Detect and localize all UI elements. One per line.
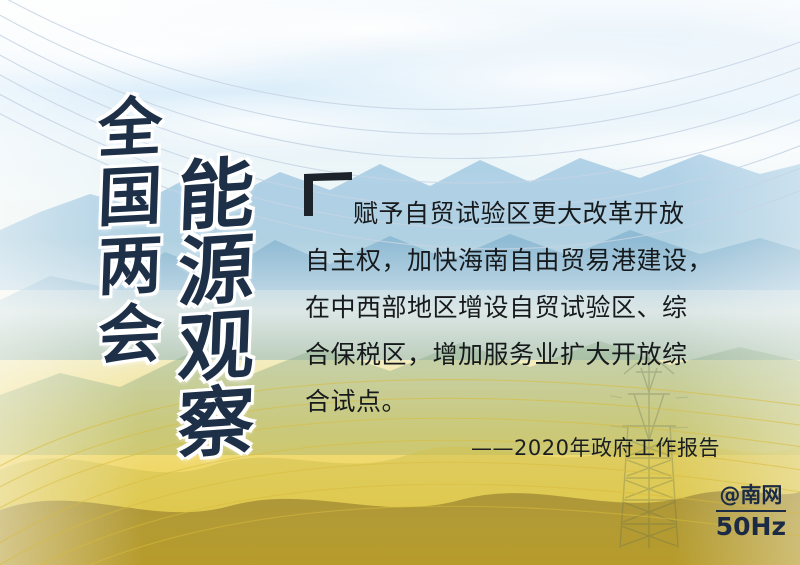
title-column-nengyuanguancha: 能 源 观 察 (178, 160, 254, 464)
title-column-quanguolianghui: 全 国 两 会 (98, 100, 162, 376)
quote-line: 赋予自贸试验区更大改革开放 (305, 190, 725, 237)
quote-line: 自主权，加快海南自由贸易港建设， (305, 237, 725, 284)
logo-nanwang-50hz: @南网 50Hz (716, 485, 786, 539)
quote-line: 合试点。 (305, 378, 725, 425)
title-char: 观 (177, 309, 256, 384)
quote-line: 合保税区，增加服务业扩大开放综 (305, 331, 725, 378)
title-char: 全 (97, 98, 163, 160)
title-char: 源 (177, 233, 256, 308)
title-char: 两 (97, 236, 163, 298)
logo-frequency-text: 50Hz (716, 514, 786, 539)
quote-text: 赋予自贸试验区更大改革开放 自主权，加快海南自由贸易港建设， 在中西部地区增设自… (305, 190, 725, 425)
poster-canvas: 全 国 两 会 能 源 观 察 赋予自贸试验区更大改革开放 自主权，加快海南自由… (0, 0, 800, 565)
title-char: 能 (177, 157, 256, 232)
quote-attribution: ——2020年政府工作报告 (471, 432, 720, 462)
title-char: 会 (97, 305, 163, 367)
quote-line: 在中西部地区增设自贸试验区、综 (305, 284, 725, 331)
title-char: 国 (97, 167, 163, 229)
title-char: 察 (177, 385, 256, 460)
logo-brand-text: @南网 (716, 485, 786, 509)
